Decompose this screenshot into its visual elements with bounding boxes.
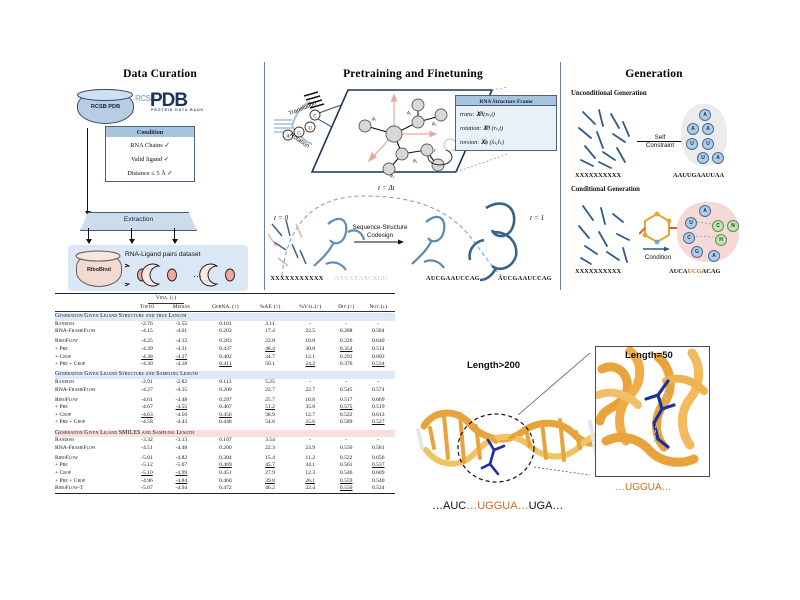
table-cell: 22.3 (250, 445, 289, 453)
table-cell: -5.01 (132, 455, 163, 463)
table-cell: 0.203 (200, 328, 250, 336)
table-cell: -3.13 (162, 437, 200, 445)
table-row: + Pre-4.67-4.550.46751.235.80.5750.519 (55, 404, 395, 412)
cond-nt-a1: A (699, 205, 711, 217)
table-cell: 0.437 (200, 346, 250, 354)
table-section-header: Generation Given Ligand Structure and tr… (55, 313, 395, 321)
table-cell: 48.4 (250, 346, 289, 354)
table-cell: 34.7 (250, 354, 289, 362)
table-cell: - (290, 379, 331, 387)
table-cell: -4.84 (162, 478, 200, 486)
table-cell: 25.6 (290, 419, 331, 427)
table-cell: 0.556 (331, 445, 362, 453)
cond-seq-out-highlight: UCG (687, 268, 701, 275)
table-row: + Pre-5.12-5.070.46945.734.10.5610.537 (55, 462, 395, 470)
table-row: + Pre-4.39-4.310.43748.430.80.3540.514 (55, 346, 395, 354)
table-row-label: + Pre (55, 346, 132, 354)
table-cell: -4.27 (132, 387, 163, 395)
panel-divider-2 (560, 62, 561, 290)
table-cell: 0.460 (200, 478, 250, 486)
table-cell: 0.517 (331, 397, 362, 405)
table-cell: -4.15 (162, 387, 200, 395)
table-cell: 0.469 (200, 462, 250, 470)
table-cell: 3.11 (250, 321, 289, 329)
ribobind-label: RiboBind (77, 267, 121, 273)
table-cell: 12.3 (290, 470, 331, 478)
panel-title-data-curation: Data Curation (55, 68, 265, 80)
codesign-line-1: Sequence-Structure (350, 224, 410, 232)
table-cell: 30.8 (290, 346, 331, 354)
table-cell: -4.48 (162, 397, 200, 405)
uncond-nt-6: A (712, 152, 724, 164)
table-cell: 0.546 (331, 470, 362, 478)
panel-data-curation: Data Curation RCSB PDB RCSB PDB PROTEIN … (55, 62, 265, 290)
frame-row-trans: trans: 𝐗θ(xₜ,t) (460, 111, 495, 119)
table-row: + Crop-5.10-4.990.45127.912.30.5460.609 (55, 470, 395, 478)
uncond-nt-1: A (687, 123, 699, 135)
table-cell: 0.283 (200, 338, 250, 346)
table-cell: 0.656 (361, 455, 395, 463)
table-section-header: Generation Given Ligand SMILES and Sampl… (55, 430, 395, 438)
table-cell: 0.297 (200, 397, 250, 405)
table-cell: 0.226 (331, 338, 362, 346)
panel-title-pretraining: Pretraining and Finetuning (268, 68, 558, 80)
rna-structure-figure: Length>200 (400, 300, 800, 550)
main-seq-prefix: …AUC (432, 500, 466, 512)
rna-inset-cartoon (596, 347, 709, 476)
table-cell: 0.376 (331, 361, 362, 369)
main-seq-suffix: UGA… (529, 500, 564, 512)
table-cell: 10.8 (290, 338, 331, 346)
self-constraint-line-1: Self (637, 134, 683, 141)
table-row: Random-2.91-2.820.1135.25--- (55, 379, 395, 387)
table-cell: 0.540 (361, 478, 395, 486)
table-row-label: Random (55, 321, 132, 329)
table-cell: 0.545 (331, 387, 362, 395)
table-cell: 15.4 (250, 455, 289, 463)
panel-generation: Generation Unconditional Generation Self… (563, 62, 745, 290)
table-cell: 25.7 (250, 397, 289, 405)
table-row: RiboFlow-T-5.07-4.940.47246.222.40.5500.… (55, 485, 395, 493)
table-cell: -4.63 (132, 412, 163, 420)
table-cell: 38.9 (250, 412, 289, 420)
table-row-label: + Crop (55, 354, 132, 362)
arrow-db-to-extraction (87, 128, 88, 212)
table-cell: -4.48 (162, 445, 200, 453)
noise-sticks-unconditional (573, 104, 645, 174)
hbond-dashes (693, 218, 733, 252)
svg-text:ϕ₂: ϕ₂ (407, 110, 412, 116)
table-cell: 0.101 (200, 321, 250, 329)
header-top10: Top10 (132, 304, 163, 312)
seq-mid-noisy: AXUXXAXCXGU (326, 275, 396, 282)
condition-arrow (643, 245, 673, 253)
table-cell: -4.58 (132, 419, 163, 427)
table-cell: -5.12 (132, 462, 163, 470)
table-cell: - (331, 437, 362, 445)
unconditional-generation-heading: Unconditional Generation (571, 90, 647, 97)
table-cell: -4.67 (132, 404, 163, 412)
rna-structure-frame-box: trans: 𝐗θ(xₜ,t) rotation: 𝐗θ (rₜ,t) tors… (455, 105, 557, 151)
cylinder-top-ellipse (76, 89, 134, 127)
table-cell: 17.4 (250, 328, 289, 336)
zoom-inset-box (595, 346, 710, 477)
uncond-nt-3: U (686, 138, 698, 150)
svg-text:ϕ₁: ϕ₁ (413, 158, 418, 164)
pdb-wordmark-subtitle: PROTEIN DATA BANK (151, 109, 204, 113)
table-cell: 0.354 (331, 346, 362, 354)
table-row-label: RiboFlow (55, 397, 132, 405)
uncond-nt-2: A (702, 123, 714, 135)
table-cell: 24.2 (290, 361, 331, 369)
self-constraint-line-2: Constraint (637, 142, 683, 149)
table-rule-bottom (55, 493, 395, 495)
results-table-container: Vina. (↓) GerNA. (↑) %AF. (↑) %Val.(↑) D… (55, 293, 395, 495)
cond-seq-out-post: ACAG (702, 268, 721, 275)
table-cell: 45.7 (250, 462, 289, 470)
table-cell: 0.613 (361, 412, 395, 420)
main-seq-highlight: …UGGUA… (466, 500, 528, 512)
table-cell: -4.82 (162, 455, 200, 463)
svg-text:r: r (434, 149, 436, 154)
condition-item-2: Distance ≤ 5 Å ✓ (106, 169, 194, 177)
arrow-extract-2 (131, 228, 132, 240)
table-cell: - (290, 321, 331, 329)
header-gerna: GerNA. (↑) (200, 295, 250, 312)
table-row-label: + Pre (55, 404, 132, 412)
ribobind-top-ellipse (74, 250, 122, 268)
table-cell: 0.574 (361, 387, 395, 395)
table-cell: 11.2 (290, 455, 331, 463)
table-cell: 0.589 (331, 419, 362, 427)
table-cell: 0.451 (200, 470, 250, 478)
table-cell: 5.25 (250, 379, 289, 387)
codesign-label: Sequence-Structure Codesign (350, 224, 410, 239)
t-label-mid: t = Δt (378, 184, 395, 192)
table-row: + Pre + Crop-4.30-4.180.41150.124.20.376… (55, 361, 395, 369)
table-row-label: RNA-FrameFlow (55, 445, 132, 453)
condition-body: RNA Chains ✓ Valid ligand ✓ Distance ≤ 5… (105, 137, 195, 182)
table-cell: 22.7 (250, 387, 289, 395)
condition-item-0: RNA Chains ✓ (106, 141, 194, 149)
table-cell: 0.669 (361, 397, 395, 405)
table-cell: 0.550 (331, 485, 362, 493)
cond-seq-out-pre: AUCA (669, 268, 687, 275)
table-cell: -4.15 (132, 328, 163, 336)
uncond-nt-5: U (697, 152, 709, 164)
table-row-label: RiboFlow (55, 455, 132, 463)
table-cell: 0.581 (361, 445, 395, 453)
header-vina-label: Vina. (↓) (148, 295, 184, 304)
table-cell: 22.8 (250, 338, 289, 346)
seq-mid: AUCGAAUCCAG (418, 275, 488, 282)
table-row: RNA-FrameFlow-4.15-4.010.20317.422.50.28… (55, 328, 395, 336)
dataset-caption: RNA-Ligand pairs dataset (125, 251, 201, 258)
table-row-label: + Crop (55, 470, 132, 478)
table-cell: -2.55 (162, 321, 200, 329)
header-method-blank (55, 304, 132, 312)
table-row-label: Random (55, 379, 132, 387)
conditional-generation-heading: Conditional Generation (571, 186, 640, 193)
table-cell: -4.39 (132, 346, 163, 354)
figure-root: Data Curation RCSB PDB RCSB PDB PROTEIN … (0, 0, 800, 600)
table-cell: -4.56 (162, 412, 200, 420)
uncond-nt-0: A (699, 109, 711, 121)
svg-text:ϕ₃: ϕ₃ (432, 121, 437, 127)
ligand-molecule-icon (639, 208, 679, 246)
table-cell: - (361, 437, 395, 445)
table-row: Random-3.32-3.130.1073.54--- (55, 437, 395, 445)
table-cell: -4.18 (162, 361, 200, 369)
table-section-header: Generation Given Ligand Structure and Sa… (55, 371, 395, 379)
condition-item-1: Valid ligand ✓ (106, 155, 194, 163)
table-row: + Crop-4.63-4.560.45638.912.70.5220.613 (55, 412, 395, 420)
condition-op-label: Condition (635, 254, 681, 261)
table-header-group-row: Vina. (↓) GerNA. (↑) %AF. (↑) %Val.(↑) D… (55, 295, 395, 304)
seq-t0: XXXXXXXXXXX (262, 275, 332, 282)
table-cell: 23.9 (290, 445, 331, 453)
table-cell: -4.25 (132, 338, 163, 346)
frame-row-torsion: torsion: 𝐗ϕ (x̂ₜ,r̂ₜ) (460, 139, 504, 147)
table-row-label: + Pre + Crop (55, 361, 132, 369)
frame-row-rotation: rotation: 𝐗θ (rₜ,t) (460, 125, 503, 133)
arrow-extract-3 (174, 228, 175, 240)
table-row: + Pre + Crop-4.58-4.430.44854.825.60.589… (55, 419, 395, 427)
table-cell: 27.9 (250, 470, 289, 478)
table-cell: 34.1 (290, 462, 331, 470)
table-cell: 0.640 (361, 338, 395, 346)
header-blank (55, 295, 132, 304)
table-cell: -4.99 (162, 470, 200, 478)
table-cell: 0.519 (361, 404, 395, 412)
table-cell: 35.8 (290, 404, 331, 412)
dataset-container: RiboBind RNA-Ligand pairs dataset … (68, 245, 248, 291)
header-val: %Val.(↑) (290, 295, 331, 312)
table-cell: 50.1 (250, 361, 289, 369)
inset-sequence-label: …UGGUA… (615, 482, 672, 493)
table-cell: 3.54 (250, 437, 289, 445)
main-sequence-label: …AUC…UGGUA…UGA… (432, 500, 563, 512)
table-cell: -4.12 (162, 338, 200, 346)
table-cell: - (361, 379, 395, 387)
table-cell: 46.2 (250, 485, 289, 493)
table-cell: -2.91 (132, 379, 163, 387)
table-row: RiboFlow-4.25-4.120.28322.810.80.2260.64… (55, 338, 395, 346)
table-cell: 0.107 (200, 437, 250, 445)
table-row: + Pre + Crop-4.96-4.840.46039.826.10.559… (55, 478, 395, 486)
table-cell: -4.55 (162, 404, 200, 412)
t-label-end: t = 1 (530, 214, 544, 222)
table-cell: 39.8 (250, 478, 289, 486)
table-cell: 0.603 (361, 354, 395, 362)
table-row-label: + Crop (55, 412, 132, 420)
table-cell: 0.522 (331, 455, 362, 463)
table-cell: 0.527 (361, 419, 395, 427)
self-constraint-label: Self Constraint (637, 134, 683, 150)
extraction-node: Extraction (80, 212, 197, 231)
extraction-label: Extraction (124, 216, 153, 223)
table-cell: -4.94 (162, 485, 200, 493)
arrow-extract-1 (88, 228, 89, 240)
table-cell: -5.07 (132, 485, 163, 493)
table-cell: -5.07 (162, 462, 200, 470)
rna-ligand-pair-glyphs (125, 262, 245, 288)
cond-seq-input: XXXXXXXXXX (575, 268, 621, 275)
table-cell: 26.1 (290, 478, 331, 486)
table-cell: 0.514 (361, 346, 395, 354)
codesign-line-2: Codesign (350, 232, 410, 240)
table-cell: 0.534 (361, 361, 395, 369)
table-row-label: + Pre (55, 462, 132, 470)
table-cell: 51.2 (250, 404, 289, 412)
table-row-label: + Pre + Crop (55, 419, 132, 427)
table-row: RNA-FrameFlow-4.27-4.150.20922.722.70.54… (55, 387, 395, 395)
table-cell: - (361, 321, 395, 329)
table-cell: 0.411 (200, 361, 250, 369)
table-cell: -4.38 (132, 354, 163, 362)
table-row: RiboFlow-4.61-4.480.29725.710.80.5170.66… (55, 397, 395, 405)
table-row: RiboFlow-5.01-4.820.30415.411.20.5220.65… (55, 455, 395, 463)
table-cell: 0.472 (200, 485, 250, 493)
table-row-label: RiboFlow-T (55, 485, 132, 493)
uncond-seq-input: XXXXXXXXXX (575, 172, 621, 179)
table-cell: 0.559 (331, 478, 362, 486)
table-cell: -4.30 (132, 361, 163, 369)
svg-text:ϕ₅: ϕ₅ (372, 116, 377, 122)
table-cell: -3.32 (132, 437, 163, 445)
table-cell: 0.575 (331, 404, 362, 412)
table-row-label: Random (55, 437, 132, 445)
table-cell: 0.537 (361, 462, 395, 470)
table-cell: 0.609 (361, 470, 395, 478)
table-cell: 22.7 (290, 387, 331, 395)
table-cell: 54.8 (250, 419, 289, 427)
header-div: Div.(↑) (331, 295, 362, 312)
table-cell: 0.288 (331, 328, 362, 336)
table-cell: -4.31 (162, 346, 200, 354)
table-body: Generation Given Ligand Structure and tr… (55, 313, 395, 493)
table-cell: -4.51 (132, 445, 163, 453)
table-cell: 0.200 (200, 445, 250, 453)
seq-t1: AUCGAAUCCAG (490, 275, 560, 282)
length-inset-label: Length=50 (625, 350, 673, 361)
table-cell: 0.448 (200, 419, 250, 427)
table-cell: -5.10 (132, 470, 163, 478)
table-cell: 0.304 (200, 455, 250, 463)
table-row-label: RNA-FrameFlow (55, 328, 132, 336)
table-cell: 0.522 (331, 412, 362, 420)
table-row-label: RiboFlow (55, 338, 132, 346)
header-nov: Nov.(↓) (361, 295, 395, 312)
table-cell: -4.27 (162, 354, 200, 362)
table-cell: 22.5 (290, 328, 331, 336)
table-cell: 0.293 (331, 354, 362, 362)
table-cell: - (290, 437, 331, 445)
table-cell: 0.524 (361, 485, 395, 493)
table-section-heading-text: Generation Given Ligand Structure and tr… (55, 313, 395, 321)
header-median: Median (162, 304, 200, 312)
table-section-heading-text: Generation Given Ligand SMILES and Sampl… (55, 430, 395, 438)
t-label-start: t = 0 (274, 214, 288, 222)
table-cell: 0.402 (200, 354, 250, 362)
table-row-label: + Pre + Crop (55, 478, 132, 486)
table-cell: 12.1 (290, 354, 331, 362)
table-cell: 12.7 (290, 412, 331, 420)
table-cell: 0.113 (200, 379, 250, 387)
table-cell: 10.8 (290, 397, 331, 405)
table-cell: -2.76 (132, 321, 163, 329)
table-cell: - (331, 379, 362, 387)
uncond-nt-4: U (702, 138, 714, 150)
table-cell: 0.209 (200, 387, 250, 395)
table-cell: 22.4 (290, 485, 331, 493)
table-row-label: RNA-FrameFlow (55, 387, 132, 395)
table-row: RNA-FrameFlow-4.51-4.480.20022.323.90.55… (55, 445, 395, 453)
table-cell: 0.584 (361, 328, 395, 336)
table-cell: -4.01 (162, 328, 200, 336)
table-cell: -2.82 (162, 379, 200, 387)
header-vina-group: Vina. (↓) (132, 295, 201, 304)
table-cell: -4.43 (162, 419, 200, 427)
cond-seq-output: AUCAUCGACAG (669, 268, 721, 275)
table-cell: -4.61 (132, 397, 163, 405)
table-row: Random-2.76-2.550.1013.11--- (55, 321, 395, 329)
results-table: Vina. (↓) GerNA. (↑) %AF. (↑) %Val.(↑) D… (55, 293, 395, 495)
table-section-heading-text: Generation Given Ligand Structure and Sa… (55, 371, 395, 379)
table-cell: 0.456 (200, 412, 250, 420)
uncond-seq-output: AAUUGAAUUAA (673, 172, 724, 179)
table-cell: 0.561 (331, 462, 362, 470)
panel-title-generation: Generation (563, 68, 745, 80)
table-row: + Crop-4.38-4.270.40234.712.10.2930.603 (55, 354, 395, 362)
panel-pretraining: Pretraining and Finetuning C U G A Trans… (268, 62, 558, 290)
table-cell: - (331, 321, 362, 329)
table-cell: -4.96 (132, 478, 163, 486)
svg-text:ϕ₄: ϕ₄ (390, 173, 395, 179)
table-cell: 0.467 (200, 404, 250, 412)
dataset-ellipsis: … (193, 269, 202, 279)
header-af: %AF. (↑) (250, 295, 289, 312)
